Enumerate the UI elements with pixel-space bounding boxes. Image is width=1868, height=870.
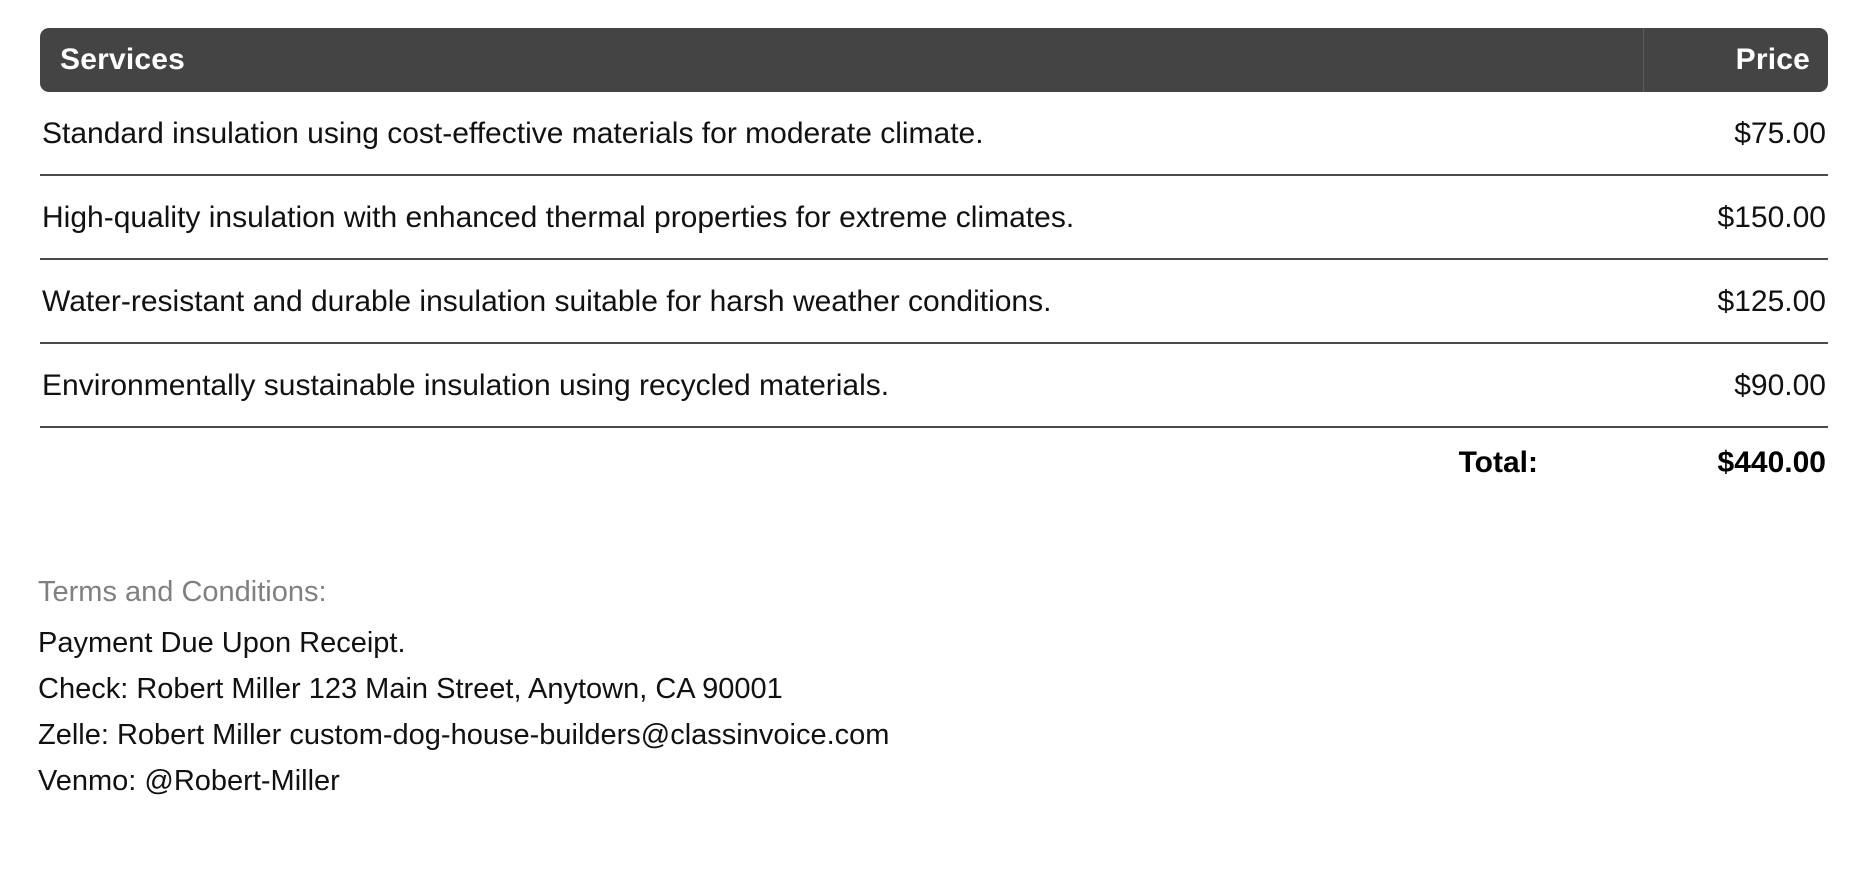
table-row: Water-resistant and durable insulation s… bbox=[40, 260, 1828, 344]
service-price: $150.00 bbox=[1626, 201, 1828, 234]
terms-line-check: Check: Robert Miller 123 Main Street, An… bbox=[38, 675, 1538, 704]
table-row: High-quality insulation with enhanced th… bbox=[40, 176, 1828, 260]
service-price: $75.00 bbox=[1626, 117, 1828, 150]
services-price-table: Services Price Standard insulation using… bbox=[40, 28, 1828, 498]
terms-title: Terms and Conditions: bbox=[38, 578, 1538, 607]
service-description: Standard insulation using cost-effective… bbox=[40, 117, 1626, 150]
column-header-price: Price bbox=[1644, 28, 1828, 92]
total-row: Total: $440.00 bbox=[40, 428, 1828, 498]
terms-line-payment: Payment Due Upon Receipt. bbox=[38, 629, 1538, 658]
service-description: Environmentally sustainable insulation u… bbox=[40, 369, 1626, 402]
service-description: Water-resistant and durable insulation s… bbox=[40, 285, 1626, 318]
column-header-services: Services bbox=[40, 28, 1644, 92]
service-price: $125.00 bbox=[1626, 285, 1828, 318]
table-header-row: Services Price bbox=[40, 28, 1828, 92]
invoice-page: Services Price Standard insulation using… bbox=[0, 0, 1868, 870]
table-row: Environmentally sustainable insulation u… bbox=[40, 344, 1828, 428]
terms-and-conditions-section: Terms and Conditions: Payment Due Upon R… bbox=[38, 578, 1538, 796]
total-label: Total: bbox=[1459, 446, 1626, 480]
table-body: Standard insulation using cost-effective… bbox=[40, 92, 1828, 498]
service-price: $90.00 bbox=[1626, 369, 1828, 402]
terms-line-venmo: Venmo: @Robert-Miller bbox=[38, 767, 1538, 796]
service-description: High-quality insulation with enhanced th… bbox=[40, 201, 1626, 234]
total-amount: $440.00 bbox=[1626, 446, 1828, 480]
terms-line-zelle: Zelle: Robert Miller custom-dog-house-bu… bbox=[38, 721, 1538, 750]
table-row: Standard insulation using cost-effective… bbox=[40, 92, 1828, 176]
